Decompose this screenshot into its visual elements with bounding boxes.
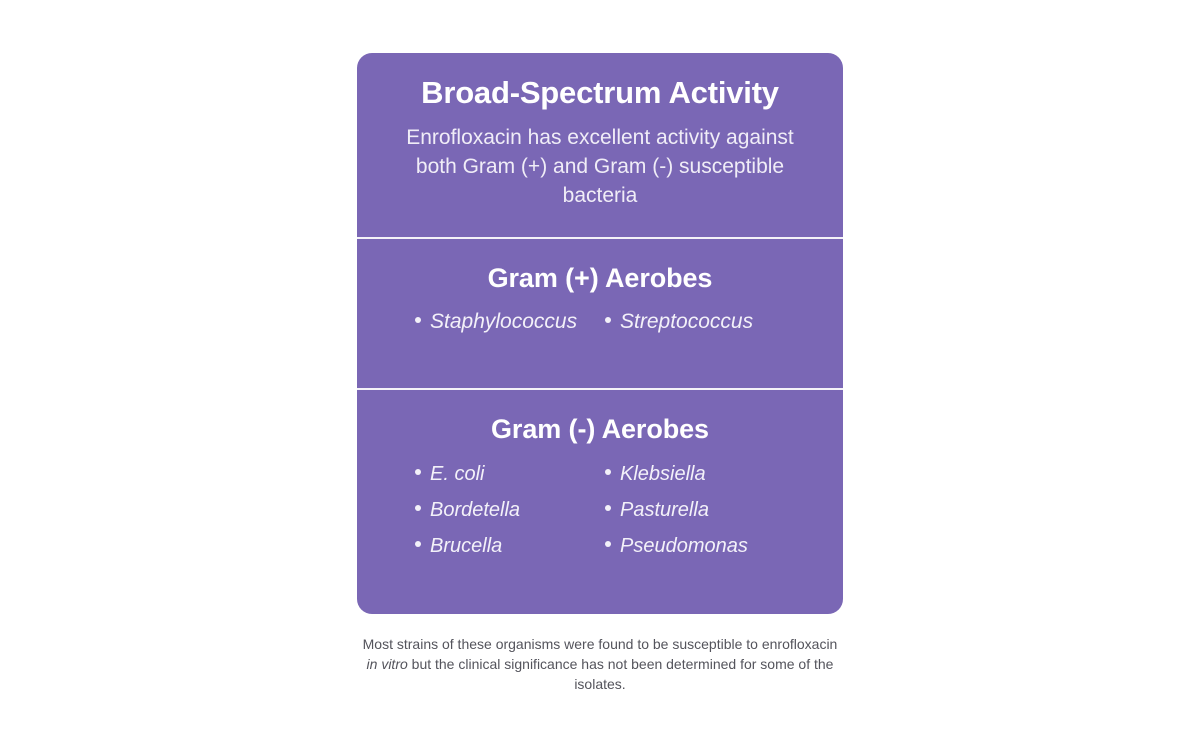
footnote-part-two: but the clinical significance has not be…	[408, 656, 834, 692]
list-item: Staphylococcus	[415, 311, 605, 332]
card-subtitle: Enrofloxacin has excellent activity agai…	[357, 123, 843, 210]
broad-spectrum-activity-card: Broad-Spectrum Activity Enrofloxacin has…	[357, 53, 843, 614]
bullet-icon	[415, 469, 421, 475]
organism-name: Pasturella	[620, 500, 709, 520]
organism-name: Bordetella	[430, 500, 520, 520]
bullet-icon	[605, 317, 611, 323]
footnote-part-one: Most strains of these organisms were fou…	[363, 636, 838, 652]
organism-name: E. coli	[430, 464, 484, 484]
footnote-italic-term: in vitro	[367, 656, 408, 672]
bullet-icon	[415, 541, 421, 547]
list-item: Streptococcus	[605, 311, 795, 332]
organism-name: Streptococcus	[620, 311, 753, 332]
list-item: Bordetella	[415, 500, 605, 520]
bullet-icon	[415, 505, 421, 511]
bullet-icon	[605, 505, 611, 511]
gram-negative-heading: Gram (-) Aerobes	[357, 412, 843, 446]
list-item: Brucella	[415, 536, 605, 556]
card-title: Broad-Spectrum Activity	[357, 73, 843, 113]
bullet-icon	[605, 541, 611, 547]
organism-name: Pseudomonas	[620, 536, 748, 556]
footnote: Most strains of these organisms were fou…	[357, 634, 843, 694]
list-item: Klebsiella	[605, 464, 795, 484]
gram-negative-section: Gram (-) Aerobes E. coli Klebsiella Bord…	[357, 390, 843, 614]
list-item: Pseudomonas	[605, 536, 795, 556]
card-header-section: Broad-Spectrum Activity Enrofloxacin has…	[357, 53, 843, 237]
gram-positive-section: Gram (+) Aerobes Staphylococcus Streptoc…	[357, 239, 843, 388]
gram-positive-heading: Gram (+) Aerobes	[357, 261, 843, 295]
organism-name: Klebsiella	[620, 464, 706, 484]
bullet-icon	[605, 469, 611, 475]
bullet-icon	[415, 317, 421, 323]
list-item: E. coli	[415, 464, 605, 484]
list-item: Pasturella	[605, 500, 795, 520]
gram-positive-organism-list: Staphylococcus Streptococcus	[357, 311, 843, 332]
organism-name: Brucella	[430, 536, 502, 556]
organism-name: Staphylococcus	[430, 311, 577, 332]
page-canvas: Broad-Spectrum Activity Enrofloxacin has…	[0, 0, 1200, 740]
gram-negative-organism-list: E. coli Klebsiella Bordetella Pasturella…	[357, 464, 843, 556]
